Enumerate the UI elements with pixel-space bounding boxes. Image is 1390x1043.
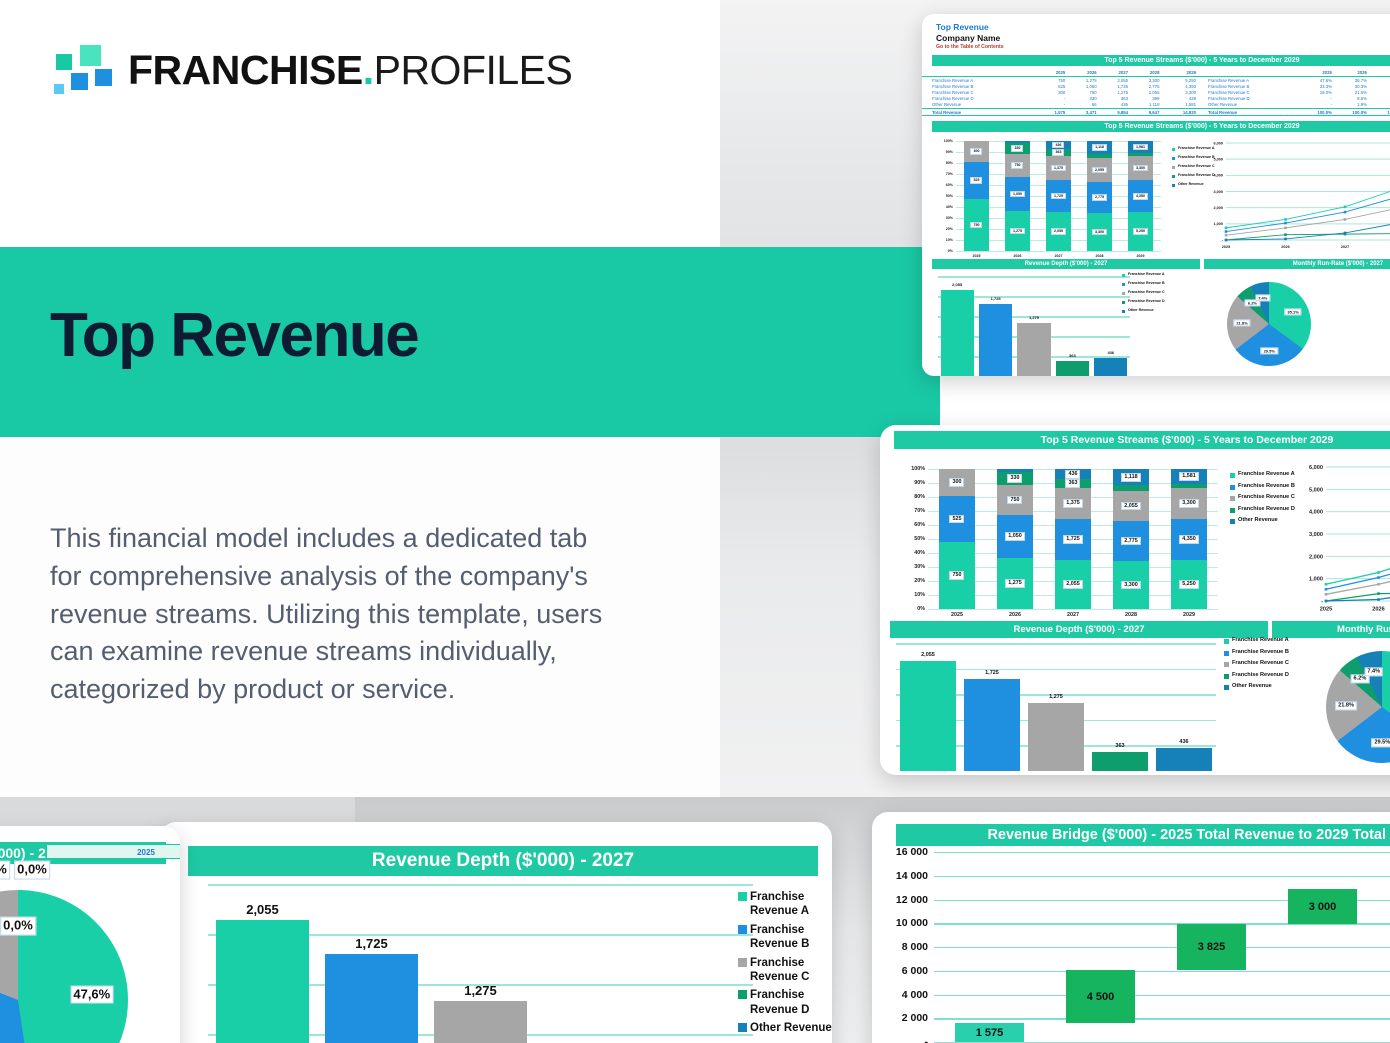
bar-value-label: 3,300 xyxy=(1092,229,1107,235)
revenue-depth-legend-small: Franchise Revenue AFranchise Revenue BFr… xyxy=(1122,272,1165,317)
table-row: Other Revenue-1.9%7.4%11.8%10.6% xyxy=(1198,102,1390,109)
bar-value-label: 1,725 xyxy=(985,670,999,676)
svg-text:2026: 2026 xyxy=(1281,245,1289,249)
table-header-cell: 2025 xyxy=(1036,69,1067,77)
table-cell: 3,471 xyxy=(1067,108,1098,115)
bar: 1,725 xyxy=(979,304,1012,376)
bar-value-label: 3,300 xyxy=(1133,165,1148,171)
bar-value-label: 750 xyxy=(1007,496,1022,505)
bar-value-label: 363 xyxy=(1052,149,1064,155)
brand-logo[interactable]: FRANCHISE.PROFILES xyxy=(48,42,572,98)
dashboard-panel-run-rate-pie[interactable]: y Run-Rate ($'000) - 2025 47,6%33,3%19,0… xyxy=(0,826,180,1043)
logo-squares-icon xyxy=(48,42,114,98)
bar-value-label: 1,118 xyxy=(1092,144,1107,150)
legend-label: Franchise Revenue A xyxy=(1128,272,1164,277)
table-header-cell: 2027 xyxy=(1099,69,1130,77)
table-cell: 1,275 xyxy=(1067,77,1098,84)
legend-swatch xyxy=(738,958,747,967)
revenue-depth-chart-small[interactable]: 2,0551,7251,275363436 xyxy=(938,276,1130,376)
legend-label: Franchise Revenue D xyxy=(1128,299,1165,304)
panel-top-chart-title: Top 5 Revenue Streams ($'000) - 5 Years … xyxy=(932,121,1390,132)
bar-value-label: 3,300 xyxy=(1179,499,1199,508)
panel-top-company: Company Name xyxy=(936,33,1390,44)
revenue-percent-table: 20252026202720282029Franchise Revenue A4… xyxy=(1198,69,1390,116)
bar-value-label: 1,725 xyxy=(991,296,1001,301)
bar: 436 xyxy=(1094,358,1127,376)
svg-text:5,000: 5,000 xyxy=(1309,487,1323,493)
table-cell: 1,581 xyxy=(1161,102,1198,109)
legend-label: Franchise Revenue D xyxy=(750,988,832,1017)
legend-swatch xyxy=(1172,175,1175,178)
legend-swatch xyxy=(1122,283,1125,286)
bar-value-label: 1,275 xyxy=(1005,579,1025,588)
legend-item: Franchise Revenue A xyxy=(1122,272,1165,277)
legend-swatch xyxy=(738,925,747,934)
bar-value-label: 2,775 xyxy=(1121,537,1141,546)
legend-swatch xyxy=(1224,662,1229,667)
legend-swatch xyxy=(738,1023,747,1032)
table-row: Franchise Revenue C3007501,2752,0553,300 xyxy=(922,89,1198,95)
legend-item: Franchise Revenue D xyxy=(738,988,832,1017)
row-label: Total Revenue xyxy=(1198,108,1299,115)
row-label: Other Revenue xyxy=(1198,102,1299,109)
table-row: Franchise Revenue B5251,0501,7252,7754,3… xyxy=(922,83,1198,89)
revenue-values-table: 20252026202720282029Franchise Revenue A7… xyxy=(922,69,1198,116)
table-cell: 2,055 xyxy=(1099,77,1130,84)
legend-item: Other Revenue xyxy=(1230,517,1295,525)
svg-text:4,000: 4,000 xyxy=(1213,174,1223,178)
legend-item: Franchise Revenue C xyxy=(1230,494,1295,502)
panel-mid-chart-title: Top 5 Revenue Streams ($'000) - 5 Years … xyxy=(894,431,1390,449)
bar-value-label: 4,350 xyxy=(1133,193,1148,199)
svg-text:2025: 2025 xyxy=(1222,245,1230,249)
bar-value-label: 363 xyxy=(1069,353,1076,358)
pie-slice-label: 7.4% xyxy=(1255,294,1270,301)
waterfall-bar: 4 500 xyxy=(1066,970,1135,1023)
legend-item: Franchise Revenue D xyxy=(1230,506,1295,514)
legend-label: Other Revenue xyxy=(750,1021,832,1035)
pie-slice-group xyxy=(0,890,128,1043)
legend-swatch xyxy=(1224,674,1229,679)
brand-dot: . xyxy=(363,47,374,93)
table-cell: 47.6% xyxy=(1299,77,1334,84)
table-cell: 7.4% xyxy=(1369,102,1390,109)
legend-label: Franchise Revenue B xyxy=(750,923,832,952)
row-label: Franchise Revenue A xyxy=(1198,77,1299,84)
pie-chart-mid[interactable]: 35.1%29.5%21.8%6.2%7.4% xyxy=(1272,637,1390,775)
bar-value-label: 5,250 xyxy=(1179,580,1199,589)
bar: 436 xyxy=(1156,748,1211,771)
panel-top-tables: 20252026202720282029Franchise Revenue A7… xyxy=(922,66,1390,116)
legend-swatch xyxy=(738,892,747,901)
legend-label: Franchise Revenue C xyxy=(1128,290,1165,295)
legend-swatch xyxy=(1224,685,1229,690)
table-header-cell: 2025 xyxy=(1299,69,1334,77)
waterfall-bar: 1 575 xyxy=(955,1023,1024,1042)
table-cell: 100.0% xyxy=(1369,108,1390,115)
bar-value-label: 1,375 xyxy=(1063,499,1083,508)
svg-text:2025: 2025 xyxy=(1320,607,1332,613)
row-label: Franchise Revenue A xyxy=(922,77,1036,84)
bar-value-label: 1,725 xyxy=(355,936,388,951)
legend-item: Franchise Revenue C xyxy=(738,956,832,985)
stacked-chart-legend-mid: Franchise Revenue AFranchise Revenue BFr… xyxy=(1230,471,1295,529)
panel-top-runrate-title: Monthly Run-Rate ($'000) - 2027 xyxy=(1204,259,1390,269)
revenue-depth-legend: Franchise Revenue AFranchise Revenue BFr… xyxy=(738,890,832,1039)
svg-text:6,000: 6,000 xyxy=(1309,465,1323,471)
revenue-bridge-waterfall[interactable]: -2 0004 0006 0008 00010 00012 00014 0001… xyxy=(934,852,1390,1042)
svg-text:3,000: 3,000 xyxy=(1309,532,1323,538)
table-cell: 66 xyxy=(1067,102,1098,109)
svg-text:5,000: 5,000 xyxy=(1213,157,1223,161)
legend-label: Franchise Revenue A xyxy=(1238,471,1295,479)
dashboard-panel-mid[interactable]: Top 5 Revenue Streams ($'000) - 5 Years … xyxy=(880,425,1390,775)
legend-label: Other Revenue xyxy=(1128,308,1154,313)
svg-text:6,000: 6,000 xyxy=(1213,141,1223,145)
pie-slice-label: 47,6% xyxy=(70,985,113,1004)
legend-swatch xyxy=(1230,519,1235,524)
bar: 1,275 xyxy=(434,1001,528,1043)
bar-value-label: 1,725 xyxy=(1063,535,1083,544)
legend-swatch xyxy=(1172,157,1175,160)
legend-item: Franchise Revenue B xyxy=(738,923,832,952)
bar: 363 xyxy=(1056,361,1089,376)
svg-text:2,000: 2,000 xyxy=(1213,206,1223,210)
legend-swatch xyxy=(1122,292,1125,295)
bar: 1,275 xyxy=(1017,323,1050,376)
waterfall-bar: 3 825 xyxy=(1177,924,1246,969)
legend-item: Franchise Revenue D xyxy=(1122,299,1165,304)
legend-swatch xyxy=(738,990,747,999)
table-cell: 1,118 xyxy=(1130,102,1161,109)
bar-value-label: 1,050 xyxy=(1005,532,1025,541)
background-plate-top-left xyxy=(0,0,720,247)
legend-item: Other Revenue xyxy=(1122,308,1165,313)
dashboard-panel-revenue-depth[interactable]: Revenue Depth ($'000) - 2027 2,0551,7251… xyxy=(160,822,832,1043)
bar-value-label: 436 xyxy=(1107,350,1114,355)
legend-item: Franchise Revenue B xyxy=(1230,483,1295,491)
bar-value-label: 2,055 xyxy=(952,282,962,287)
bar: 2,055 xyxy=(941,290,974,376)
table-header-cell: 2029 xyxy=(1161,69,1198,77)
legend-swatch xyxy=(1230,473,1235,478)
brand-wordmark: FRANCHISE.PROFILES xyxy=(128,50,572,91)
table-header-cell: 2027 xyxy=(1369,69,1390,77)
table-header-cell: 2026 xyxy=(1334,69,1369,77)
bar: 2,055 xyxy=(900,661,955,771)
table-cell: 3,300 xyxy=(1130,77,1161,84)
bar: 363 xyxy=(1092,752,1147,771)
table-cell: 436 xyxy=(1099,102,1130,109)
table-of-contents-link[interactable]: Go to the Table of Contents xyxy=(936,44,1390,51)
panel-top-section-title: Top 5 Revenue Streams ($'000) - 5 Years … xyxy=(932,55,1390,66)
table-cell: - xyxy=(1036,102,1067,109)
bar-value-label: 1,275 xyxy=(464,983,497,998)
bar-value-label: 2,055 xyxy=(246,902,279,917)
bar-value-label: 2,055 xyxy=(1092,167,1107,173)
svg-text:1,000: 1,000 xyxy=(1213,222,1223,226)
bar-value-label: 436 xyxy=(1065,470,1080,479)
panel-mid-runrate-title: Monthly Run-Rate ($'0 xyxy=(1272,621,1390,638)
legend-swatch xyxy=(1122,301,1125,304)
svg-text:1,000: 1,000 xyxy=(1309,577,1323,583)
pie-slice-label: 29.5% xyxy=(1261,347,1278,354)
legend-label: Franchise Revenue A xyxy=(750,890,832,919)
legend-item: Franchise Revenue A xyxy=(738,890,832,919)
legend-label: Franchise Revenue B xyxy=(1128,281,1165,286)
bar-value-label: 330 xyxy=(1007,474,1022,483)
svg-text:-: - xyxy=(1321,599,1323,605)
legend-swatch xyxy=(1172,148,1175,151)
bar-value-label: 330 xyxy=(1011,145,1023,151)
bar-value-label: 3,300 xyxy=(1121,581,1141,590)
legend-label: Franchise Revenue D xyxy=(1238,506,1295,514)
table-cell: - xyxy=(1299,102,1334,109)
revenue-depth-bars[interactable]: 2,0551,7251,275363436 xyxy=(208,884,753,1043)
bar-value-label: 2,055 xyxy=(1051,228,1066,234)
legend-label: Franchise Revenue C xyxy=(1238,494,1295,502)
pie-slice-label: 0,0% xyxy=(0,917,36,936)
panel-top-depth-title: Revenue Depth ($'000) - 2027 xyxy=(932,259,1200,269)
legend-item: Franchise Revenue A xyxy=(1230,471,1295,479)
legend-swatch xyxy=(1122,310,1125,313)
bar-value-label: 436 xyxy=(1179,739,1188,745)
bar-value-label: 525 xyxy=(970,177,982,183)
table-cell: 5,854 xyxy=(1099,108,1130,115)
panel-top-header: Top Revenue Company Name Go to the Table… xyxy=(922,14,1390,51)
pie-chart-small[interactable]: 35.1%29.5%21.8%6.2%7.4% xyxy=(1177,272,1390,376)
revenue-bridge-title: Revenue Bridge ($'000) - 2025 Total Reve… xyxy=(896,824,1390,846)
legend-item: Other Revenue xyxy=(738,1021,832,1035)
table-row-total: Total Revenue100.0%100.0%100.0%100.0%100… xyxy=(1198,108,1390,115)
pie-slice-label: 0,0% xyxy=(0,861,10,880)
bar-value-label: 300 xyxy=(970,148,982,154)
svg-text:2026: 2026 xyxy=(1372,607,1384,613)
bar-value-label: 300 xyxy=(949,478,964,487)
legend-swatch xyxy=(1122,274,1125,277)
page-title: Top Revenue xyxy=(50,305,418,367)
pie-year-tag: 2025 xyxy=(46,844,180,859)
legend-label: Other Revenue xyxy=(1238,517,1278,525)
pie-slice-label: 7.4% xyxy=(1364,667,1383,676)
bar-value-label: 1,375 xyxy=(1051,165,1066,171)
bar-value-label: 1,050 xyxy=(1010,191,1025,197)
bar-value-label: 1,581 xyxy=(1179,472,1199,481)
table-header-cell: 2026 xyxy=(1067,69,1098,77)
bar-value-label: 363 xyxy=(1115,743,1124,749)
table-cell: 9,647 xyxy=(1130,108,1161,115)
pie-slice-label: 21.8% xyxy=(1335,701,1357,710)
bar-value-label: 1,275 xyxy=(1010,228,1025,234)
table-cell: 14,920 xyxy=(1161,108,1198,115)
svg-text:2027: 2027 xyxy=(1341,245,1349,249)
legend-swatch xyxy=(1230,508,1235,513)
bar-value-label: 363 xyxy=(1065,479,1080,488)
bar: 1,725 xyxy=(325,954,419,1043)
panel-top-title: Top Revenue xyxy=(936,22,1390,33)
pie-slice-label: 0,0% xyxy=(14,861,50,880)
legend-item: Franchise Revenue C xyxy=(1122,290,1165,295)
legend-label: Franchise Revenue B xyxy=(1238,483,1295,491)
table-cell: 1.9% xyxy=(1334,102,1369,109)
pie-slice-label: 21.8% xyxy=(1233,320,1250,327)
bar-value-label: 525 xyxy=(949,515,964,524)
slide-stage: FRANCHISE.PROFILES Top Revenue This fina… xyxy=(0,0,1390,1043)
svg-text:2,000: 2,000 xyxy=(1309,554,1323,560)
svg-text:4,000: 4,000 xyxy=(1309,510,1323,516)
table-cell: 750 xyxy=(1036,77,1067,84)
stacked-bar-chart-mid[interactable]: 0%10%20%30%40%50%60%70%80%90%100%7505253… xyxy=(928,469,1218,609)
bar-value-label: 750 xyxy=(970,222,982,228)
legend-item: Franchise Revenue B xyxy=(1122,281,1165,286)
table-row-total: Total Revenue1,5753,4715,8549,64714,920 xyxy=(922,108,1198,115)
svg-text:3,000: 3,000 xyxy=(1213,190,1223,194)
bar-value-label: 2,055 xyxy=(1063,580,1083,589)
bar: 1,725 xyxy=(964,679,1019,771)
bar-value-label: 2,775 xyxy=(1092,194,1107,200)
legend-label: Franchise Revenue C xyxy=(750,956,832,985)
bar: 1,275 xyxy=(1028,703,1083,771)
bar-value-label: 750 xyxy=(949,571,964,580)
table-cell: 35.1% xyxy=(1369,77,1390,84)
bar-value-label: 750 xyxy=(1011,162,1023,168)
run-rate-pie[interactable]: 47,6%33,3%19,0%0,0%0,0%0,0%0,0%2025 xyxy=(0,882,160,1043)
table-cell: 1,575 xyxy=(1036,108,1067,115)
legend-swatch xyxy=(1172,184,1175,187)
bar-value-label: 1,118 xyxy=(1121,473,1140,482)
revenue-depth-chart-mid[interactable]: 2,0551,7251,275363436 xyxy=(896,643,1216,771)
dashboard-panel-revenue-bridge[interactable]: Revenue Bridge ($'000) - 2025 Total Reve… xyxy=(872,812,1390,1043)
bar: 2,055 xyxy=(216,920,310,1043)
table-cell: 100.0% xyxy=(1334,108,1369,115)
legend-swatch xyxy=(1172,166,1175,169)
legend-swatch xyxy=(1230,496,1235,501)
line-chart-mid[interactable]: -1,0002,0003,0004,0005,0006,000202520262… xyxy=(1292,463,1390,615)
bar-value-label: 2,055 xyxy=(1121,502,1141,511)
line-chart-small[interactable]: -1,0002,0003,0004,0005,0006,000202520262… xyxy=(1200,139,1390,254)
table-row: Franchise Revenue A7501,2752,0553,3005,2… xyxy=(922,77,1198,84)
brand-name-bold: FRANCHISE xyxy=(128,47,363,93)
table-cell: 100.0% xyxy=(1299,108,1334,115)
bar-value-label: 4,350 xyxy=(1179,535,1199,544)
table-header-cell: 2028 xyxy=(1130,69,1161,77)
row-label: Total Revenue xyxy=(922,108,1036,115)
dashboard-panel-top[interactable]: Top Revenue Company Name Go to the Table… xyxy=(922,14,1390,376)
row-label: Other Revenue xyxy=(922,102,1036,109)
bar-value-label: 1,275 xyxy=(1029,315,1039,320)
brand-name-light: PROFILES xyxy=(374,47,573,93)
bar-value-label: 1,581 xyxy=(1133,144,1148,150)
legend-swatch xyxy=(1230,485,1235,490)
table-cell: 5,250 xyxy=(1161,77,1198,84)
legend-label: Other Revenue xyxy=(1232,683,1272,691)
bar-value-label: 5,250 xyxy=(1133,228,1148,234)
bar-value-label: 1,725 xyxy=(1051,193,1066,199)
pie-slice-label: 29.5% xyxy=(1371,738,1390,747)
table-cell: 36.7% xyxy=(1334,77,1369,84)
bar-value-label: 2,055 xyxy=(921,652,935,658)
legend-swatch xyxy=(1224,639,1229,644)
page-description: This financial model includes a dedicate… xyxy=(50,520,615,709)
legend-swatch xyxy=(1224,651,1229,656)
revenue-depth-title: Revenue Depth ($'000) - 2027 xyxy=(188,846,818,876)
panel-mid-depth-title: Revenue Depth ($'000) - 2027 xyxy=(890,621,1268,638)
svg-text:-: - xyxy=(1222,238,1224,242)
table-row: Franchise Revenue A47.6%36.7%35.1%34.7%3… xyxy=(1198,77,1390,84)
waterfall-bar: 3 000 xyxy=(1288,889,1357,925)
table-row: Other Revenue-664361,1181,581 xyxy=(922,102,1198,109)
pie-slice-label: 35.1% xyxy=(1284,308,1301,315)
bar-value-label: 1,275 xyxy=(1049,694,1063,700)
stacked-bar-chart-small[interactable]: 0%10%20%30%40%50%60%70%80%90%100%7505253… xyxy=(956,141,1161,251)
bar-value-label: 436 xyxy=(1052,142,1064,148)
